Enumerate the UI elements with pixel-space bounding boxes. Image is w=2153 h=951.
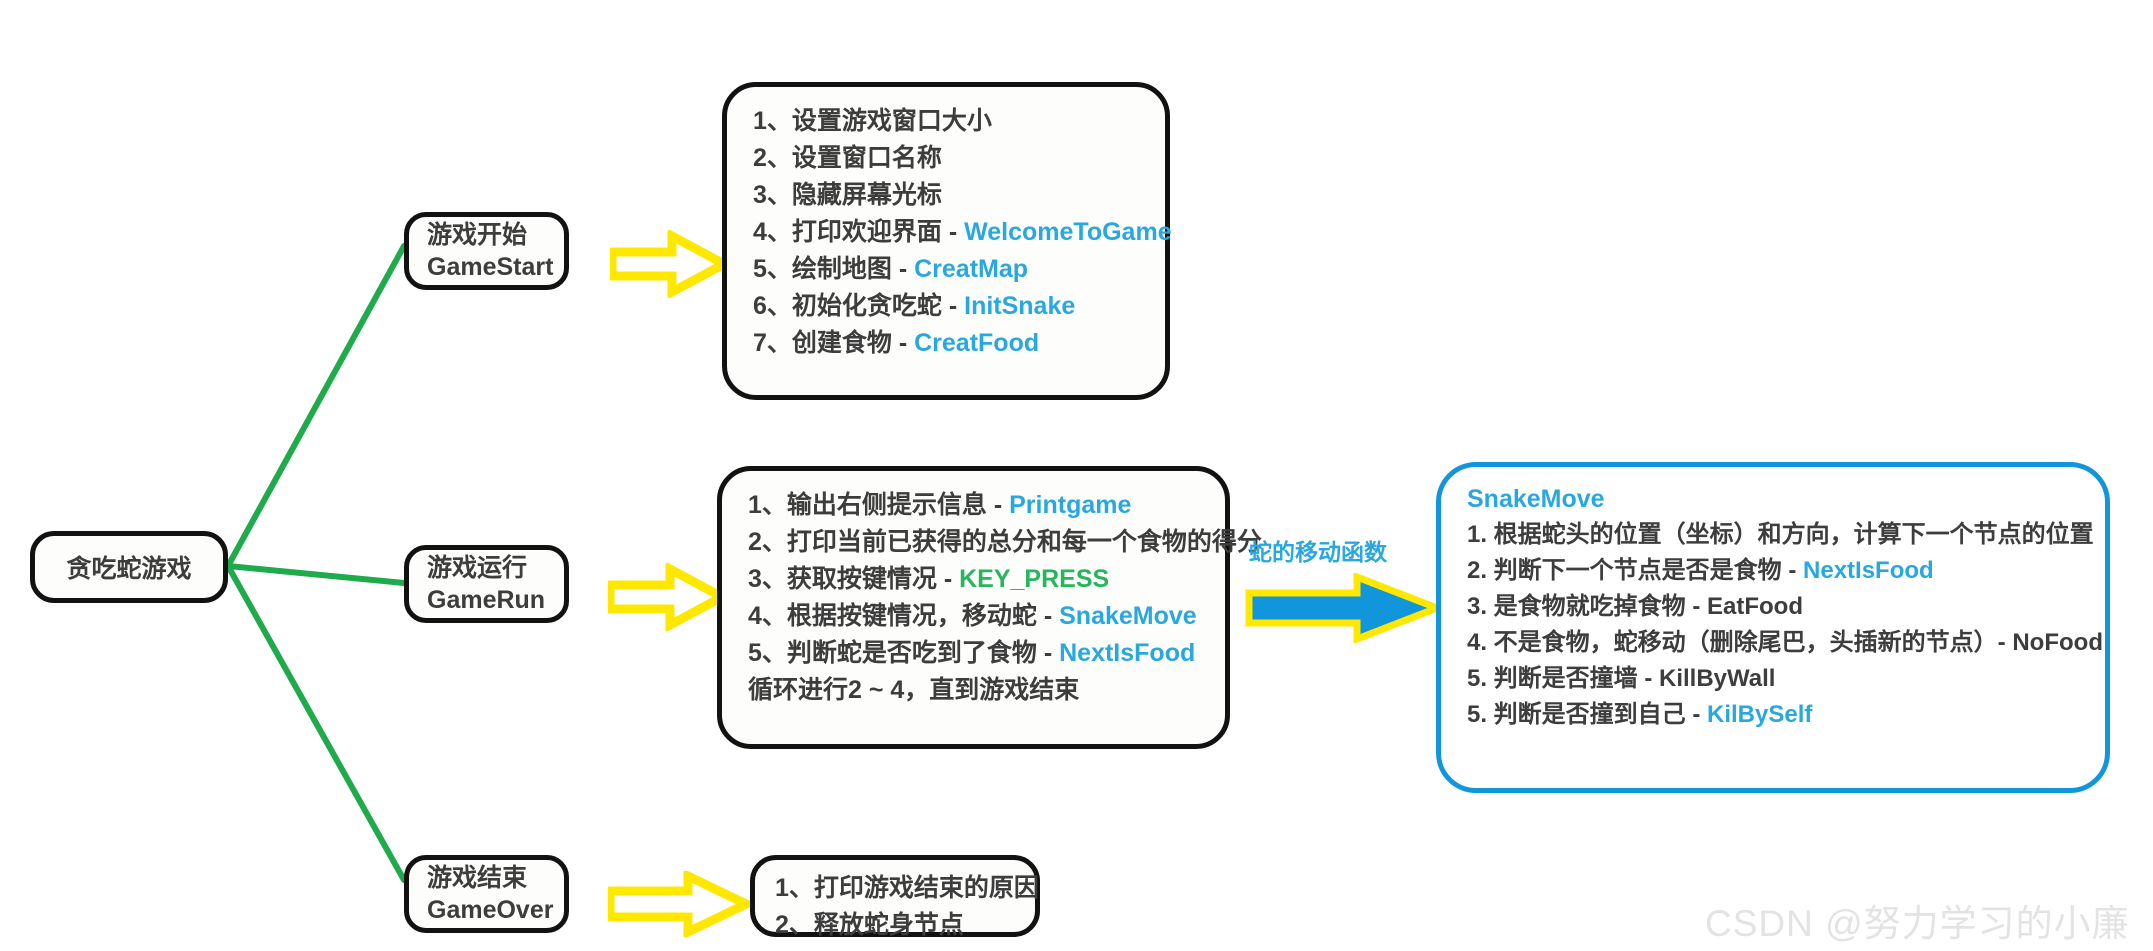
stage-node-game-run-cn: 游戏运行 bbox=[427, 552, 527, 584]
stage-node-game-run[interactable]: 游戏运行 GameRun bbox=[404, 545, 569, 623]
detail-box-game-over[interactable]: 1、打印游戏结束的原因 2、释放蛇身节点 bbox=[750, 855, 1040, 937]
branch-line-game-start bbox=[228, 246, 404, 566]
stage-node-game-over[interactable]: 游戏结束 GameOver bbox=[404, 855, 569, 933]
detail-item: 5、判断蛇是否吃到了食物 - NextIsFood bbox=[748, 635, 1195, 672]
detail-item: 1、设置游戏窗口大小 bbox=[753, 103, 992, 140]
snake-move-box[interactable]: SnakeMove 1. 根据蛇头的位置（坐标）和方向，计算下一个节点的位置 2… bbox=[1436, 462, 2110, 793]
stage-node-game-start[interactable]: 游戏开始 GameStart bbox=[404, 212, 569, 290]
detail-item: 2、释放蛇身节点 bbox=[775, 907, 964, 944]
snake-move-item: 1. 根据蛇头的位置（坐标）和方向，计算下一个节点的位置 bbox=[1467, 517, 2094, 553]
mindmap-canvas: 贪吃蛇游戏 游戏开始 GameStart 1、设置游戏窗口大小 2、设置窗口名称… bbox=[0, 0, 2153, 951]
snake-move-item: 5. 判断是否撞到自己 - KilBySelf bbox=[1467, 697, 1812, 733]
yellow-arrow-game-over bbox=[608, 871, 750, 937]
root-node[interactable]: 贪吃蛇游戏 bbox=[30, 531, 228, 603]
snake-move-item: 2. 判断下一个节点是否是食物 - NextIsFood bbox=[1467, 553, 1934, 589]
snake-move-item: 3. 是食物就吃掉食物 - EatFood bbox=[1467, 589, 1803, 625]
stage-node-game-over-en: GameOver bbox=[427, 894, 553, 926]
detail-item: 3、隐藏屏幕光标 bbox=[753, 177, 942, 214]
detail-box-game-run[interactable]: 1、输出右侧提示信息 - Printgame 2、打印当前已获得的总分和每一个食… bbox=[717, 466, 1230, 749]
stage-node-game-start-cn: 游戏开始 bbox=[427, 219, 527, 251]
detail-item: 1、输出右侧提示信息 - Printgame bbox=[748, 487, 1131, 524]
detail-item: 4、根据按键情况，移动蛇 - SnakeMove bbox=[748, 598, 1197, 635]
detail-item: 循环进行2 ~ 4，直到游戏结束 bbox=[748, 672, 1079, 709]
snake-move-item: 4. 不是食物，蛇移动（删除尾巴，头插新的节点）- NoFood bbox=[1467, 625, 2103, 661]
blue-arrow-snake-move bbox=[1245, 573, 1441, 643]
stage-node-game-over-cn: 游戏结束 bbox=[427, 862, 527, 894]
detail-item: 4、打印欢迎界面 - WelcomeToGame bbox=[753, 214, 1172, 251]
stage-node-game-start-en: GameStart bbox=[427, 251, 553, 283]
detail-item: 5、绘制地图 - CreatMap bbox=[753, 251, 1028, 288]
branch-line-game-over bbox=[228, 566, 404, 880]
detail-item: 6、初始化贪吃蛇 - InitSnake bbox=[753, 288, 1075, 325]
detail-item: 2、设置窗口名称 bbox=[753, 140, 942, 177]
snake-move-box-title: SnakeMove bbox=[1467, 483, 1605, 517]
detail-item: 2、打印当前已获得的总分和每一个食物的得分 bbox=[748, 524, 1262, 561]
snake-move-annotation: 蛇的移动函数 bbox=[1249, 533, 1387, 567]
detail-box-game-start[interactable]: 1、设置游戏窗口大小 2、设置窗口名称 3、隐藏屏幕光标 4、打印欢迎界面 - … bbox=[722, 82, 1170, 400]
root-node-label: 贪吃蛇游戏 bbox=[66, 549, 191, 585]
detail-item: 3、获取按键情况 - KEY_PRESS bbox=[748, 561, 1109, 598]
branch-line-game-run bbox=[228, 566, 404, 583]
snake-move-item: 5. 判断是否撞墙 - KillByWall bbox=[1467, 661, 1775, 697]
yellow-arrow-game-start bbox=[610, 230, 728, 298]
stage-node-game-run-en: GameRun bbox=[427, 584, 545, 616]
yellow-arrow-game-run bbox=[608, 563, 726, 631]
detail-item: 7、创建食物 - CreatFood bbox=[753, 325, 1039, 362]
csdn-watermark: CSDN @努力学习的小廉 bbox=[1705, 893, 2130, 947]
detail-item: 1、打印游戏结束的原因 bbox=[775, 870, 1039, 907]
